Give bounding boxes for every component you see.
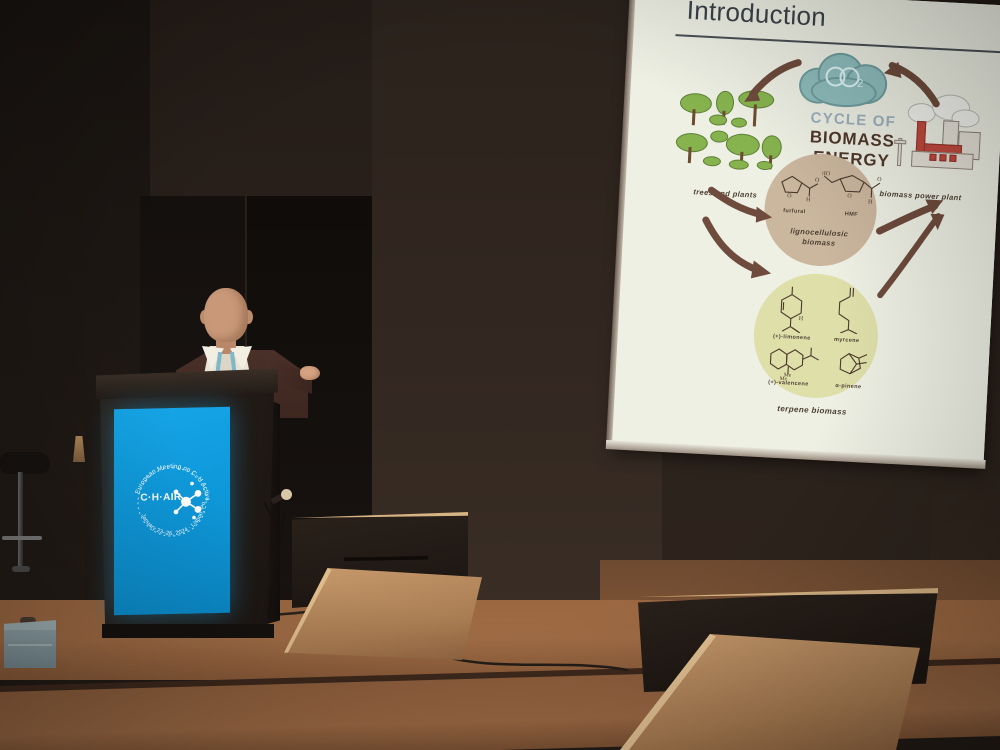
svg-text:H: H: [806, 197, 811, 202]
svg-text:O: O: [815, 178, 820, 184]
conference-logo-text: C·H·AIR: [134, 492, 188, 504]
bar-stool: [0, 452, 56, 602]
svg-text:HO: HO: [821, 171, 831, 177]
slide-title: Introduction: [686, 0, 827, 33]
stool-pole: [18, 472, 23, 570]
co2-cloud-icon: 2: [798, 49, 887, 105]
arrow-cloud-to-trees: [734, 51, 807, 113]
hmf-structure: HO O O H: [821, 168, 883, 205]
label-terpene-biomass: terpene biomass: [754, 403, 870, 418]
myrcene-structure: [830, 287, 866, 335]
case-stripe: [8, 644, 52, 646]
conference-photo-scene: Introduction 2 CYCLE OF BIOMASS ENERGY: [0, 0, 1000, 750]
co2-subscript: 2: [857, 78, 864, 90]
podium-branding-screen[interactable]: European Meeting on C–H Activation Janua…: [114, 407, 230, 615]
arrow-plant-to-cloud: [882, 57, 955, 119]
stage-monitor-right: [620, 588, 960, 750]
projection-screen: Introduction 2 CYCLE OF BIOMASS ENERGY: [611, 0, 1000, 475]
arrow-terpene-to-plant: [876, 211, 949, 304]
svg-text:O: O: [877, 177, 882, 183]
microphone-head-icon: [281, 489, 292, 500]
svg-text:O: O: [847, 193, 852, 199]
stage-monitor-left: [284, 512, 482, 664]
speaker-hand-right: [300, 366, 320, 380]
stool-footrest: [2, 536, 42, 540]
stool-seat: [0, 452, 50, 474]
svg-text:O: O: [787, 193, 792, 199]
valencene-structure: Me Me: [764, 343, 826, 382]
podium-base: [102, 624, 274, 638]
stool-base: [12, 566, 30, 572]
furfural-structure: O O H: [777, 170, 823, 202]
pinene-structure: [834, 349, 876, 383]
grey-equipment-case: [4, 622, 60, 670]
lectern-podium: European Meeting on C–H Activation Janua…: [96, 372, 278, 640]
case-front: [4, 630, 56, 668]
limonene-structure: H: [774, 286, 812, 334]
svg-text:H: H: [868, 199, 873, 205]
presentation-slide: Introduction 2 CYCLE OF BIOMASS ENERGY: [612, 0, 1000, 461]
speaker-head: [204, 288, 248, 342]
arrow-trees-to-terpene: [700, 218, 779, 290]
svg-text:H: H: [799, 316, 804, 322]
